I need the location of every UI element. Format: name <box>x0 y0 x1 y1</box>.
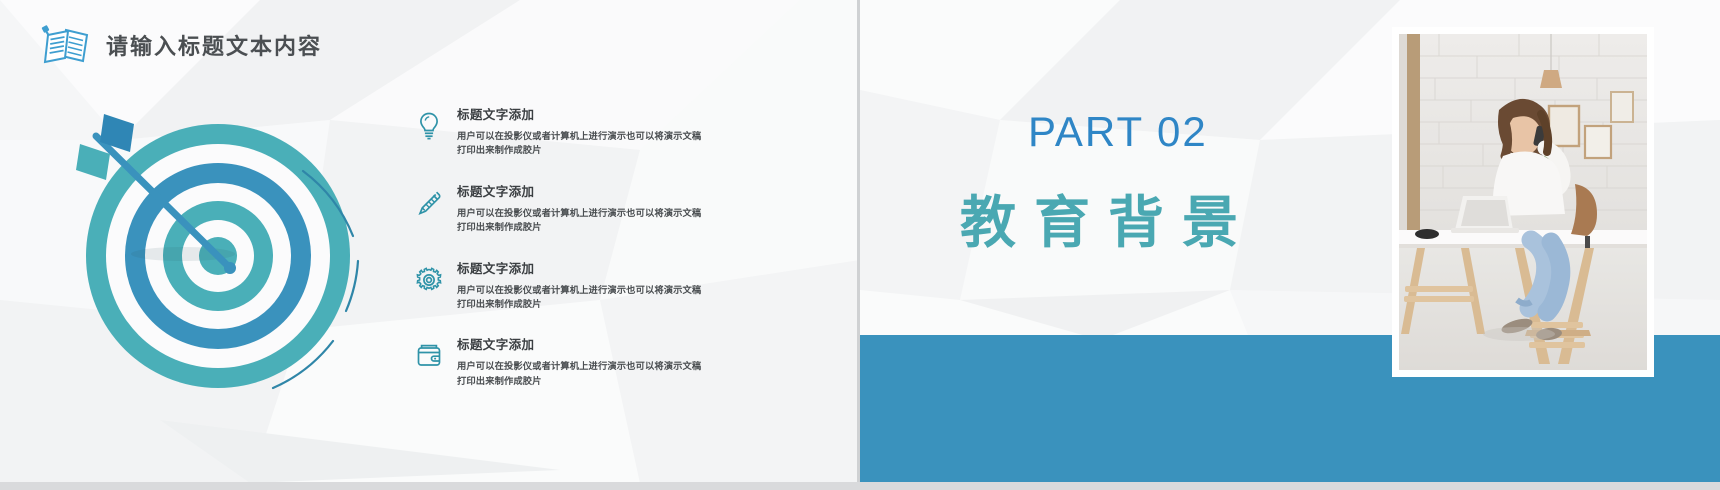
list-item-title: 标题文字添加 <box>457 258 745 277</box>
list-item-title: 标题文字添加 <box>457 334 745 353</box>
notebook-pen-icon <box>36 24 90 66</box>
list-item-title: 标题文字添加 <box>457 104 745 123</box>
woman-working-at-desk-photo <box>1399 34 1647 370</box>
list-item-description: 用户可以在投影仪或者计算机上进行演示也可以将演示文稿打印出来制作成胶片 <box>457 206 702 235</box>
list-item-description: 用户可以在投影仪或者计算机上进行演示也可以将演示文稿打印出来制作成胶片 <box>457 129 702 158</box>
section-heading: 教育背景 <box>960 178 1256 259</box>
part-label: PART 02 <box>1028 108 1208 156</box>
list-item-description: 用户可以在投影仪或者计算机上进行演示也可以将演示文稿打印出来制作成胶片 <box>457 283 702 312</box>
gear-icon <box>415 265 443 295</box>
list-item-description: 用户可以在投影仪或者计算机上进行演示也可以将演示文稿打印出来制作成胶片 <box>457 359 702 388</box>
pencil-icon <box>415 188 443 218</box>
bottom-strip <box>0 482 1720 490</box>
bullet-list: 标题文字添加 用户可以在投影仪或者计算机上进行演示也可以将演示文稿打印出来制作成… <box>415 104 745 388</box>
target-dartboard-graphic <box>58 96 378 396</box>
list-item[interactable]: 标题文字添加 用户可以在投影仪或者计算机上进行演示也可以将演示文稿打印出来制作成… <box>415 258 745 312</box>
photo-frame <box>1392 27 1654 377</box>
list-item-title: 标题文字添加 <box>457 181 745 200</box>
slide-title: 请输入标题文本内容 <box>36 24 322 66</box>
lightbulb-icon <box>415 111 443 141</box>
right-section-panel: PART 02 教育背景 <box>860 0 1720 490</box>
list-item[interactable]: 标题文字添加 用户可以在投影仪或者计算机上进行演示也可以将演示文稿打印出来制作成… <box>415 181 745 235</box>
left-content-panel: 请输入标题文本内容 <box>0 0 857 490</box>
list-item-body: 标题文字添加 用户可以在投影仪或者计算机上进行演示也可以将演示文稿打印出来制作成… <box>457 181 745 235</box>
list-item-body: 标题文字添加 用户可以在投影仪或者计算机上进行演示也可以将演示文稿打印出来制作成… <box>457 258 745 312</box>
wallet-icon <box>415 341 443 371</box>
list-item-body: 标题文字添加 用户可以在投影仪或者计算机上进行演示也可以将演示文稿打印出来制作成… <box>457 104 745 158</box>
list-item[interactable]: 标题文字添加 用户可以在投影仪或者计算机上进行演示也可以将演示文稿打印出来制作成… <box>415 104 745 158</box>
list-item[interactable]: 标题文字添加 用户可以在投影仪或者计算机上进行演示也可以将演示文稿打印出来制作成… <box>415 334 745 388</box>
slide-canvas: 请输入标题文本内容 <box>0 0 1720 490</box>
slide-title-text: 请输入标题文本内容 <box>106 29 322 61</box>
list-item-body: 标题文字添加 用户可以在投影仪或者计算机上进行演示也可以将演示文稿打印出来制作成… <box>457 334 745 388</box>
